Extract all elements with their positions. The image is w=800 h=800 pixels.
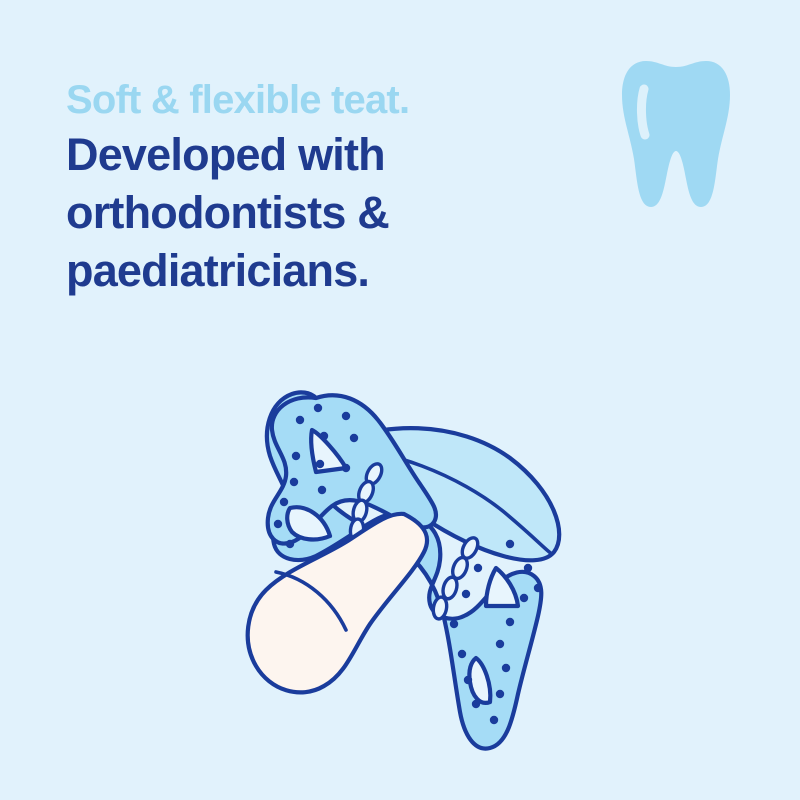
- eyebrow-text: Soft & flexible teat.: [66, 74, 586, 126]
- headline-line-1: Developed with: [66, 126, 586, 184]
- dot: [314, 404, 322, 412]
- dot: [450, 620, 458, 628]
- headline-block: Soft & flexible teat. Developed with ort…: [66, 74, 586, 300]
- dot: [490, 716, 498, 724]
- dot: [274, 520, 282, 528]
- dot: [316, 460, 324, 468]
- dot: [280, 498, 288, 506]
- tooth-highlight: [641, 89, 645, 135]
- dot: [534, 584, 542, 592]
- tooth-icon: [620, 55, 732, 213]
- dot: [296, 416, 304, 424]
- dot: [506, 618, 514, 626]
- dot: [286, 540, 294, 548]
- dot: [496, 640, 504, 648]
- dot: [506, 540, 514, 548]
- dot: [292, 452, 300, 460]
- dot: [318, 486, 326, 494]
- dot: [502, 664, 510, 672]
- dot: [464, 676, 472, 684]
- dot: [520, 594, 528, 602]
- dot: [350, 434, 358, 442]
- dot: [472, 700, 480, 708]
- dot: [342, 412, 350, 420]
- dot: [474, 564, 482, 572]
- dot: [458, 650, 466, 658]
- dot: [462, 590, 470, 598]
- dot: [290, 478, 298, 486]
- dot: [342, 464, 350, 472]
- dot: [524, 564, 532, 572]
- tooth-body: [622, 61, 730, 207]
- pacifier-illustration: [228, 372, 584, 756]
- dot: [320, 432, 328, 440]
- headline-line-2: orthodontists &: [66, 184, 586, 242]
- headline-line-3: paediatricians.: [66, 242, 586, 300]
- dot: [496, 690, 504, 698]
- poster-canvas: Soft & flexible teat. Developed with ort…: [0, 0, 800, 800]
